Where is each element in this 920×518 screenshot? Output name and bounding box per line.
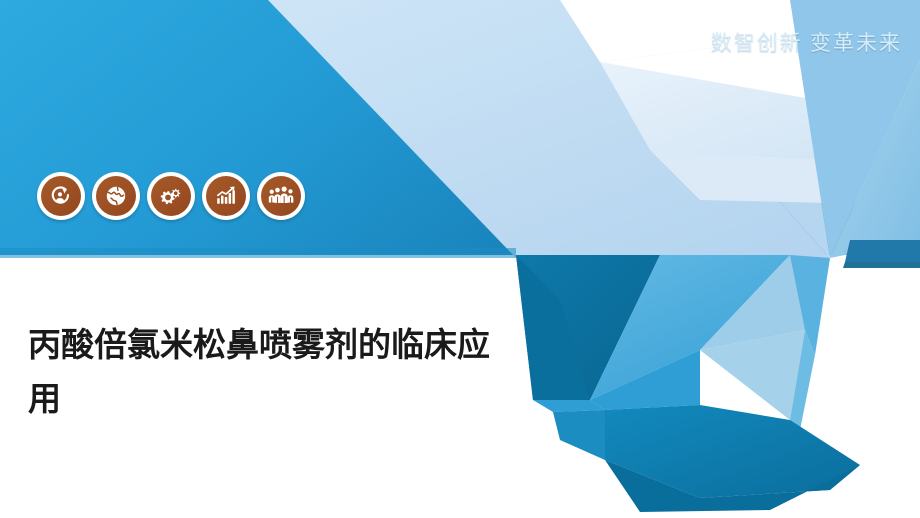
background-polygon-artwork — [0, 0, 920, 518]
icon-badge-gears[interactable] — [147, 172, 195, 220]
icon-badge-refresh-person[interactable] — [37, 172, 85, 220]
header-tagline: 数智创新 变革未来 — [711, 27, 902, 57]
icon-badge-globe[interactable] — [92, 172, 140, 220]
people-group-icon — [261, 176, 301, 216]
bar-chart-growth-icon — [206, 176, 246, 216]
icon-badge-bar-chart-growth[interactable] — [202, 172, 250, 220]
presentation-slide: 数智创新 变革未来 — [0, 0, 920, 518]
globe-icon — [96, 176, 136, 216]
page-title: 丙酸倍氯米松鼻喷雾剂的临床应用 — [28, 318, 518, 425]
feature-icon-row — [37, 172, 305, 220]
refresh-person-icon — [41, 176, 81, 216]
icon-badge-people-group[interactable] — [257, 172, 305, 220]
gears-icon — [151, 176, 191, 216]
